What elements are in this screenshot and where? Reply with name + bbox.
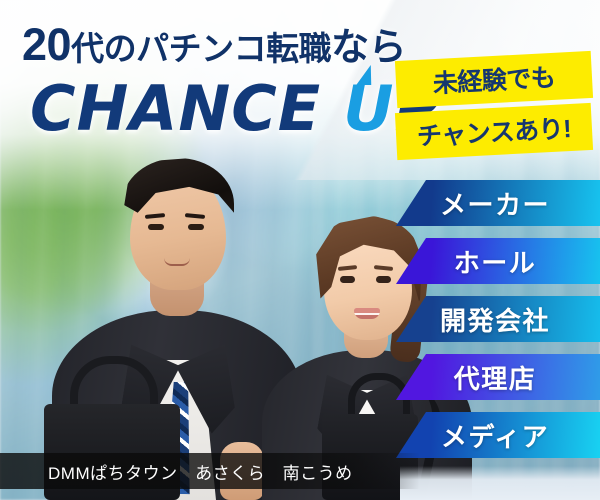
- headline-primary: 20代のパチンコ転職なら: [22, 16, 406, 71]
- promo-badge-line-2: チャンスあり!: [395, 103, 593, 160]
- logo-word-chance: CHANCE: [30, 72, 321, 145]
- businessman-mouth: [164, 258, 190, 266]
- credit-text: DMMぱちタウン あさくら 南こうめ: [48, 459, 353, 484]
- category-tag-hall[interactable]: ホール: [396, 238, 600, 284]
- businesswoman-eye-left: [340, 276, 355, 283]
- headline-subject: 代のパチンコ転職: [71, 30, 331, 67]
- businessman-eye-left: [148, 224, 164, 230]
- headline-number: 20: [22, 19, 71, 70]
- category-tag-maker[interactable]: メーカー: [396, 180, 600, 226]
- category-tag-media[interactable]: メディア: [396, 412, 600, 458]
- logo-chance-up: CHANCE UP: [30, 72, 441, 145]
- promo-badge-line-1: 未経験でも: [395, 51, 593, 108]
- businessman-eye-right: [188, 224, 204, 230]
- bottom-right-fade: [400, 466, 600, 500]
- category-tag-label: ホール: [454, 243, 537, 280]
- promo-badge: 未経験でも チャンスあり!: [396, 56, 592, 155]
- businesswoman-mouth: [354, 308, 380, 319]
- advertisement-banner[interactable]: 20代のパチンコ転職なら CHANCE UP 未経験でも チャンスあり! メーカ…: [0, 0, 600, 500]
- category-tag-label: メディア: [441, 417, 549, 454]
- credit-bar: DMMぱちタウン あさくら 南こうめ: [0, 453, 420, 489]
- category-tag-list: メーカー ホール 開発会社 代理店 メディア: [396, 180, 600, 470]
- category-tag-label: 代理店: [454, 359, 537, 396]
- category-tag-agency[interactable]: 代理店: [396, 354, 600, 400]
- businesswoman-eye-right: [376, 276, 391, 283]
- category-tag-developer[interactable]: 開発会社: [396, 296, 600, 342]
- category-tag-label: メーカー: [440, 185, 550, 222]
- category-tag-label: 開発会社: [440, 301, 550, 338]
